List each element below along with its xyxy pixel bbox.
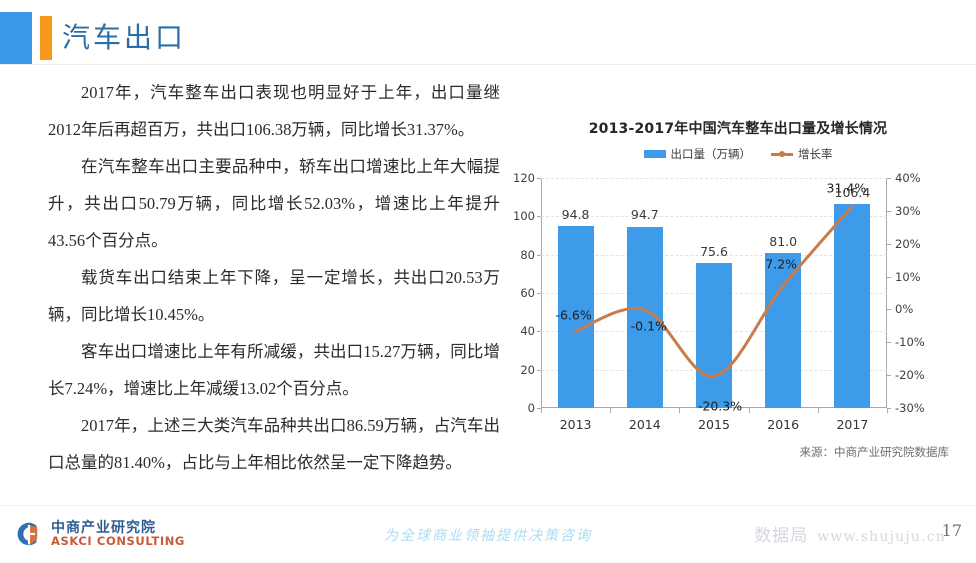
left-axis-tick-label: 20: [520, 363, 535, 377]
footer-divider: [0, 505, 976, 506]
right-axis-tick: [887, 178, 891, 179]
line-value-label: 31.4%: [827, 181, 867, 196]
bar-value-label: 81.0: [769, 234, 797, 249]
right-axis-tick-label: -30%: [895, 401, 925, 415]
left-axis-tick-label: 80: [520, 248, 535, 262]
paragraph: 2017年，上述三大类汽车品种共出口86.59万辆，占汽车出口总量的81.40%…: [48, 407, 500, 481]
line-value-label: -20.3%: [698, 399, 742, 414]
legend-item-bar: 出口量（万辆）: [644, 146, 752, 162]
right-axis-tick-label: 40%: [895, 171, 921, 185]
page-title: 汽车出口: [62, 18, 186, 58]
slide-footer: 中商产业研究院 ASKCI CONSULTING 为全球商业领袖提供决策咨询 数…: [0, 505, 976, 563]
watermark-url: www.shujuju.cn: [817, 529, 946, 545]
header-orange-block: [40, 16, 52, 60]
right-axis-tick-label: -20%: [895, 368, 925, 382]
slide-page: 汽车出口 2017年，汽车整车出口表现也明显好于上年，出口量继2012年后再超百…: [0, 0, 976, 563]
line-value-label: -6.6%: [555, 308, 591, 323]
category-label: 2017: [836, 417, 868, 432]
chart-source-note: 来源：中商产业研究院数据库: [505, 444, 971, 460]
legend-item-line: 增长率: [771, 146, 833, 162]
x-axis-tick: [749, 408, 750, 413]
right-axis-tick: [887, 277, 891, 278]
watermark-name: 数据局: [754, 521, 808, 546]
bar-value-label: 75.6: [700, 244, 728, 259]
category-label: 2015: [698, 417, 730, 432]
bar-value-label: 94.7: [631, 207, 659, 222]
chart-plot-area: 020406080100120 -30%-20%-10%0%10%20%30%4…: [541, 178, 887, 408]
x-axis-tick: [887, 408, 888, 413]
category-label: 2013: [560, 417, 592, 432]
slide-header: 汽车出口: [0, 8, 976, 64]
chart-legend: 出口量（万辆） 增长率: [505, 146, 971, 162]
x-axis-tick: [610, 408, 611, 413]
right-axis-tick: [887, 342, 891, 343]
chart-title: 2013-2017年中国汽车整车出口量及增长情况: [505, 118, 971, 138]
watermark: 数据局 www.shujuju.cn: [754, 521, 946, 546]
legend-line-swatch-icon: [771, 149, 793, 159]
bar-value-label: 94.8: [562, 207, 590, 222]
legend-label-line: 增长率: [798, 146, 833, 162]
article-body: 2017年，汽车整车出口表现也明显好于上年，出口量继2012年后再超百万，共出口…: [48, 74, 500, 504]
left-axis-tick-label: 60: [520, 286, 535, 300]
right-axis-tick-label: 20%: [895, 237, 921, 251]
line-value-label: 7.2%: [765, 256, 797, 271]
category-label: 2014: [629, 417, 661, 432]
left-axis-tick-label: 120: [513, 171, 535, 185]
x-axis-tick: [818, 408, 819, 413]
page-number: 17: [942, 521, 962, 540]
right-axis-tick-label: 30%: [895, 204, 921, 218]
left-axis-tick-label: 100: [513, 209, 535, 223]
right-axis-tick: [887, 309, 891, 310]
legend-bar-swatch-icon: [644, 150, 666, 158]
left-axis-tick-label: 0: [528, 401, 535, 415]
paragraph: 2017年，汽车整车出口表现也明显好于上年，出口量继2012年后再超百万，共出口…: [48, 74, 500, 148]
header-blue-block: [0, 12, 32, 64]
left-axis-tick-label: 40: [520, 324, 535, 338]
paragraph: 在汽车整车出口主要品种中，轿车出口增速比上年大幅提升，共出口50.79万辆，同比…: [48, 148, 500, 259]
header-divider: [0, 64, 976, 65]
x-axis-tick: [541, 408, 542, 413]
right-axis-tick-label: 0%: [895, 302, 913, 316]
category-label: 2016: [767, 417, 799, 432]
chart-panel: 2013-2017年中国汽车整车出口量及增长情况 出口量（万辆） 增长率 020…: [505, 112, 971, 462]
right-axis-tick: [887, 375, 891, 376]
legend-label-bar: 出口量（万辆）: [671, 146, 752, 162]
right-axis-tick: [887, 244, 891, 245]
growth-line: [541, 178, 887, 408]
paragraph: 客车出口增速比上年有所减缓，共出口15.27万辆，同比增长7.24%，增速比上年…: [48, 333, 500, 407]
line-value-label: -0.1%: [631, 318, 667, 333]
right-axis-tick-label: -10%: [895, 335, 925, 349]
growth-rate-line: [576, 206, 853, 376]
right-axis-tick-label: 10%: [895, 270, 921, 284]
x-axis-tick: [679, 408, 680, 413]
paragraph: 载货车出口结束上年下降，呈一定增长，共出口20.53万辆，同比增长10.45%。: [48, 259, 500, 333]
right-axis-tick: [887, 211, 891, 212]
